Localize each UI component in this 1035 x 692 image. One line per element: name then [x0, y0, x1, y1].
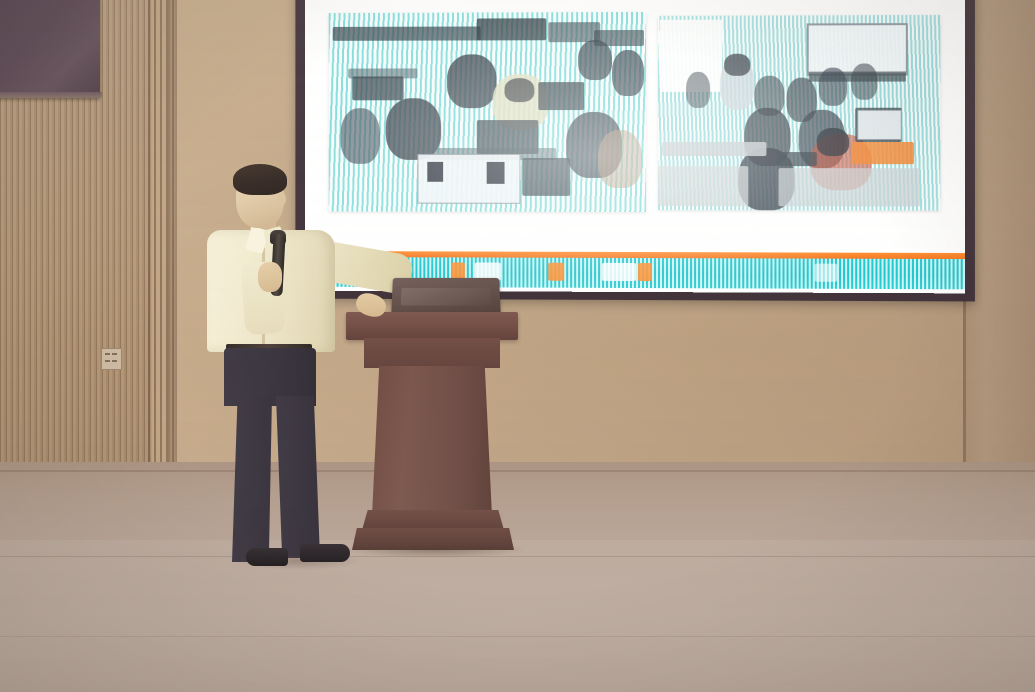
lectern-neck: [364, 338, 500, 368]
footer-logo-5: [638, 263, 652, 281]
floor-seam-2: [0, 636, 1035, 637]
projection-screen: [305, 0, 965, 293]
presenter-left-shoe: [246, 548, 288, 566]
presenter-left-hand: [258, 262, 282, 292]
lectern-column: [372, 366, 492, 516]
lectern-base-upper: [362, 510, 504, 530]
floor-wall-junction: [0, 470, 1035, 472]
dark-display-panel: [0, 0, 100, 98]
slide-photo-left: [329, 12, 646, 212]
presenter-hair: [233, 164, 287, 195]
footer-logo-3: [548, 263, 564, 281]
lectern-floor-shadow: [346, 546, 524, 558]
wall-seam: [168, 0, 177, 470]
presenter-left-leg: [232, 396, 272, 562]
floor-front: [0, 540, 1035, 692]
footer-logo-4: [602, 263, 636, 281]
slide: [305, 0, 965, 293]
presenter-right-shoe: [300, 544, 350, 562]
slide-photo-right: [658, 15, 940, 211]
wall-outlet: [101, 348, 122, 370]
dark-display-panel-edge: [0, 92, 102, 98]
footer-logo-6: [815, 264, 837, 282]
presentation-photo: [0, 0, 1035, 692]
presenter-ear: [277, 192, 286, 206]
presenter-right-leg: [276, 396, 320, 558]
